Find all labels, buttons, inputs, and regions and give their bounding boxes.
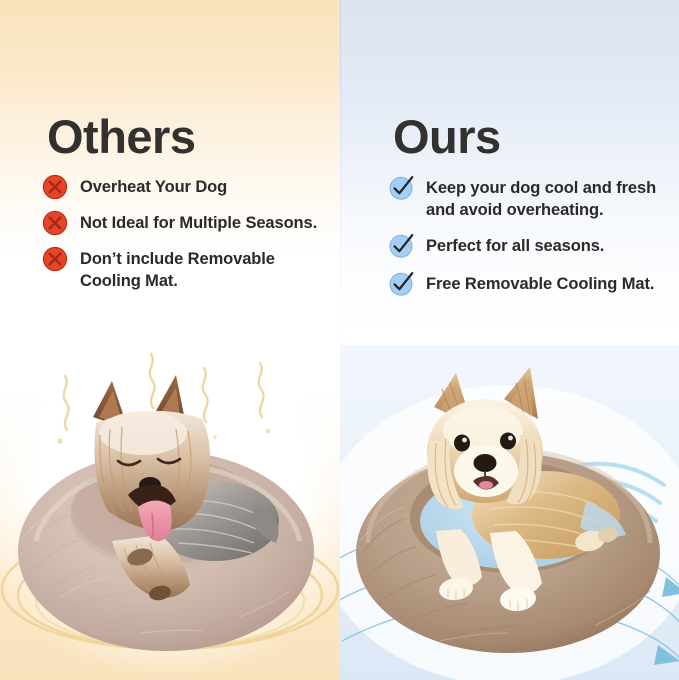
- list-item: Overheat Your Dog: [42, 175, 332, 201]
- list-item-label: Free Removable Cooling Mat.: [426, 271, 654, 295]
- list-item: Not Ideal for Multiple Seasons.: [42, 211, 332, 237]
- others-product-photo: [0, 345, 340, 680]
- x-circle-icon: [42, 246, 68, 272]
- list-item-label: Keep your dog cool and fresh and avoid o…: [426, 175, 668, 222]
- x-circle-icon: [42, 174, 68, 200]
- list-item-label: Overheat Your Dog: [80, 175, 227, 199]
- list-item: Don’t include Removable Cooling Mat.: [42, 247, 332, 293]
- list-item: Free Removable Cooling Mat.: [388, 271, 668, 298]
- x-circle-icon: [42, 210, 68, 236]
- check-circle-icon: [388, 174, 415, 201]
- list-item-label: Don’t include Removable Cooling Mat.: [80, 247, 332, 293]
- check-circle-icon: [388, 232, 415, 259]
- comparison-infographic: Others Ours Overheat Your Dog No: [0, 0, 679, 680]
- list-item-label: Perfect for all seasons.: [426, 233, 604, 257]
- check-circle-icon: [388, 270, 415, 297]
- list-item-label: Not Ideal for Multiple Seasons.: [80, 211, 317, 235]
- list-item: Perfect for all seasons.: [388, 233, 668, 260]
- others-heading: Others: [47, 113, 196, 160]
- ours-feature-list: Keep your dog cool and fresh and avoid o…: [388, 175, 668, 309]
- list-item: Keep your dog cool and fresh and avoid o…: [388, 175, 668, 222]
- others-feature-list: Overheat Your Dog Not Ideal for Multiple…: [42, 175, 332, 303]
- ours-product-photo: [340, 345, 679, 680]
- ours-heading: Ours: [393, 113, 501, 160]
